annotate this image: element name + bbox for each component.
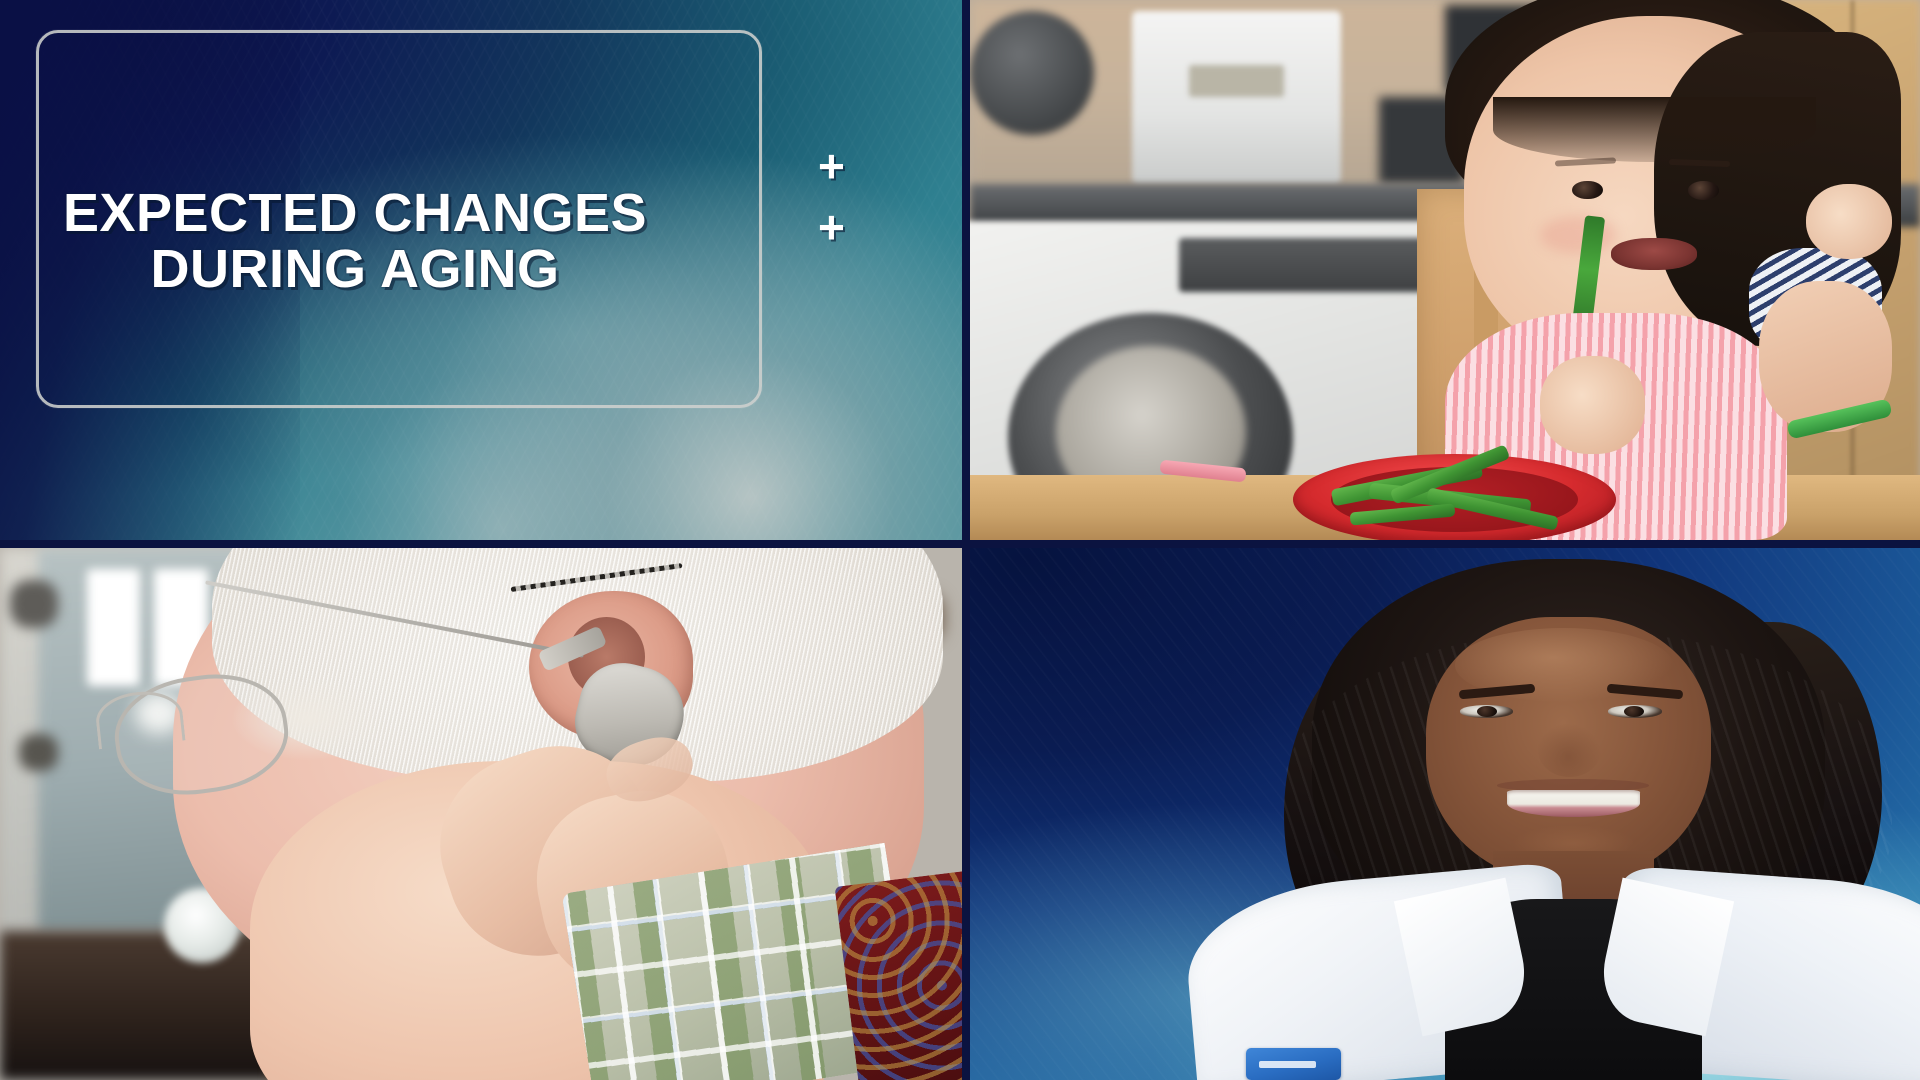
presenter-pupil-right xyxy=(1624,706,1644,717)
plus-icon-top: + xyxy=(818,148,845,185)
coffee-machine xyxy=(1132,11,1341,184)
plus-icon-bottom: + xyxy=(818,209,845,246)
wall-fixture-1 xyxy=(10,580,58,628)
baby-eye-left xyxy=(1572,181,1602,199)
baby-hand-left xyxy=(1540,356,1645,453)
title-line-1: EXPECTED CHANGES xyxy=(63,183,647,243)
kitchen-scene xyxy=(970,0,1920,540)
grid-divider-horizontal xyxy=(0,540,1920,548)
title-line-2: DURING AGING xyxy=(60,242,650,298)
baby-hand-right xyxy=(1806,184,1892,260)
panel-title-card[interactable]: EXPECTED CHANGES DURING AGING + + xyxy=(0,0,962,540)
hearing-aid-scene xyxy=(0,548,962,1080)
baby-fringe xyxy=(1493,97,1816,162)
presenter-smile xyxy=(1507,790,1640,818)
panel-presenter[interactable] xyxy=(970,548,1920,1080)
panel-hearing-aid[interactable] xyxy=(0,548,962,1080)
wall-fixture-2 xyxy=(19,734,57,771)
coffee-machine-display xyxy=(1189,65,1284,97)
washing-machine-panel xyxy=(1179,238,1426,292)
kitchen-pot xyxy=(970,11,1094,135)
panel-baby-eating[interactable] xyxy=(970,0,1920,540)
page-title: EXPECTED CHANGES DURING AGING xyxy=(60,186,650,297)
baby-mouth xyxy=(1611,238,1697,270)
baby-eye-right xyxy=(1688,181,1718,199)
door-window-left xyxy=(87,569,141,686)
plus-decoration-group: + + xyxy=(818,148,845,246)
video-grid-stage: EXPECTED CHANGES DURING AGING + + xyxy=(0,0,1920,1080)
lab-coat-badge-text xyxy=(1259,1061,1316,1068)
presenter-nose xyxy=(1538,724,1601,777)
